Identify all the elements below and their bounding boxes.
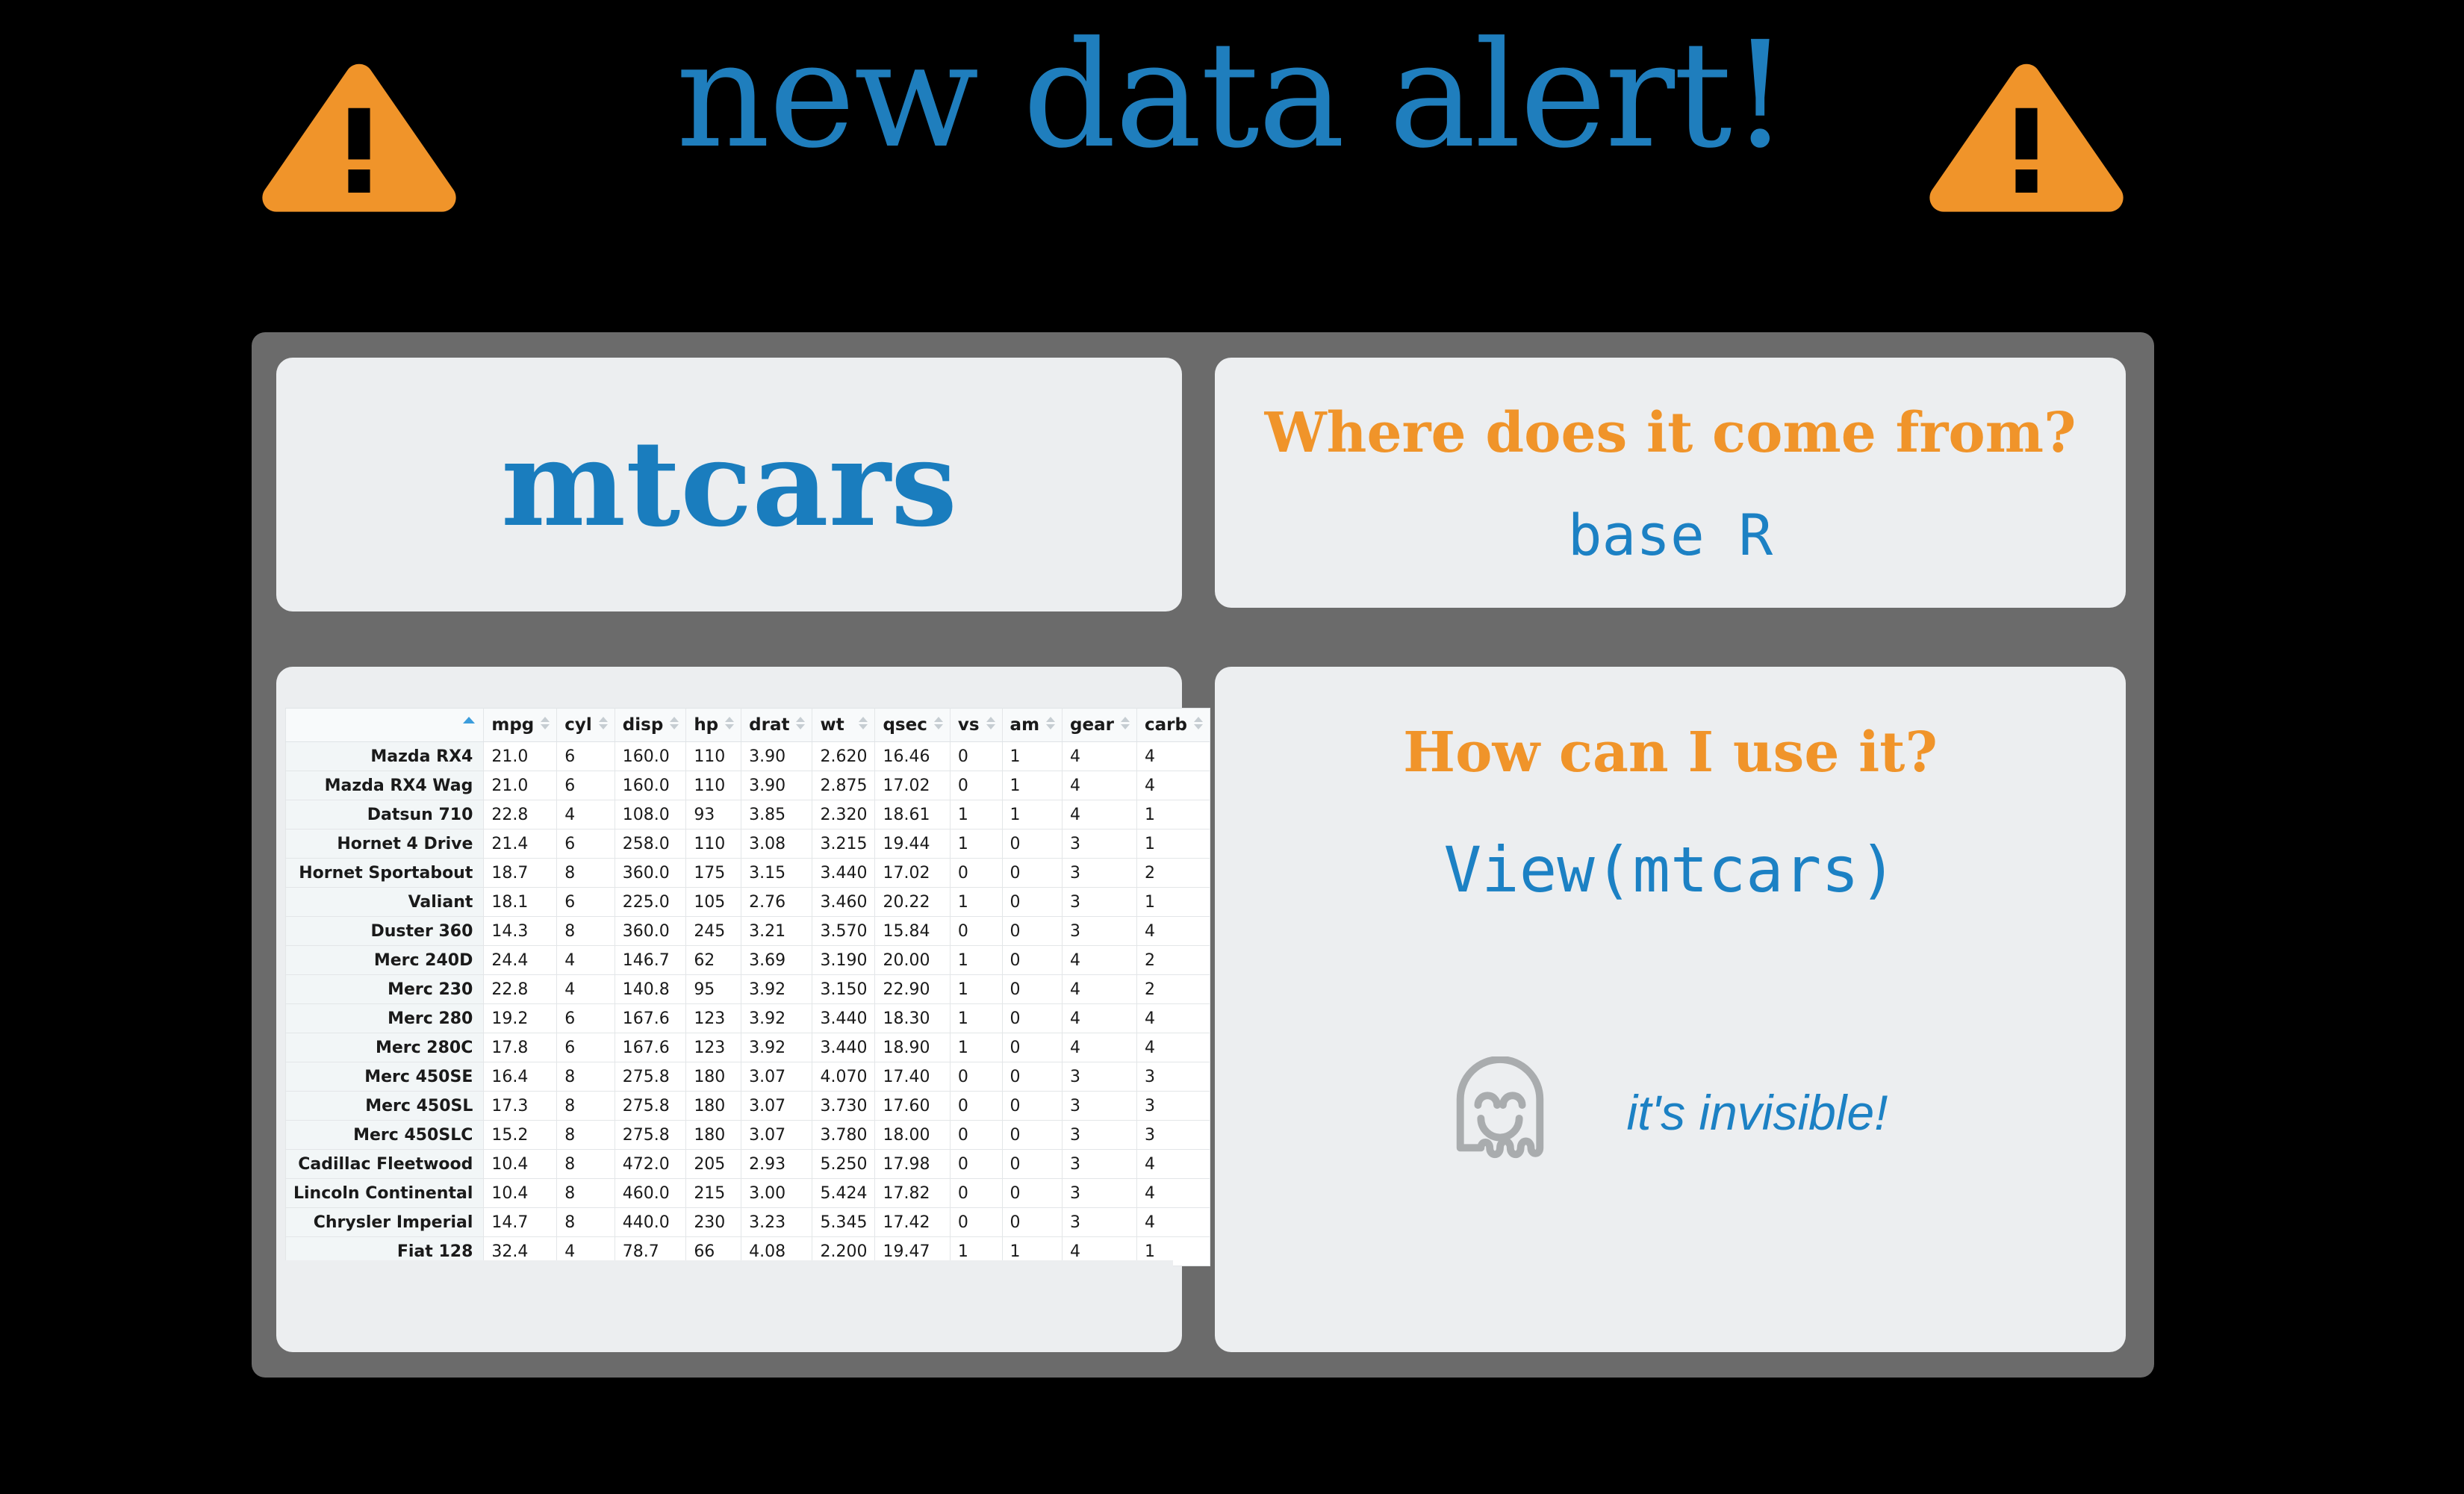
table-cell-gear: 4 — [1063, 800, 1137, 830]
content-container: mtcars mpgcyldisphpdratwtqsecvsamgearcar… — [252, 332, 2154, 1378]
mtcars-table: mpgcyldisphpdratwtqsecvsamgearcarb Mazda… — [285, 708, 1210, 1266]
table-cell-mpg: 17.3 — [484, 1092, 557, 1121]
table-cell-hp: 123 — [686, 1033, 741, 1062]
header: new data alert! — [0, 0, 2464, 314]
table-cell-wt: 3.440 — [812, 1033, 875, 1062]
table-cell-qsec: 16.46 — [875, 742, 950, 771]
table-cell-disp: 160.0 — [615, 771, 686, 800]
table-cell-rowname: Lincoln Continental — [286, 1179, 484, 1208]
table-cell-drat: 3.15 — [741, 859, 812, 888]
table-cell-drat: 3.90 — [741, 771, 812, 800]
sort-toggle-icon[interactable] — [725, 717, 735, 733]
table-cell-mpg: 22.8 — [484, 800, 557, 830]
table-cell-hp: 245 — [686, 917, 741, 946]
table-cell-drat: 3.08 — [741, 830, 812, 859]
table-cell-carb: 2 — [1136, 946, 1210, 975]
table-cell-drat: 3.92 — [741, 975, 812, 1004]
table-cell-carb: 2 — [1136, 859, 1210, 888]
table-cell-carb: 4 — [1136, 1150, 1210, 1179]
table-cell-mpg: 21.4 — [484, 830, 557, 859]
table-cell-mpg: 22.8 — [484, 975, 557, 1004]
table-header-disp[interactable]: disp — [615, 709, 686, 742]
table-cell-vs: 1 — [950, 975, 1002, 1004]
table-cell-disp: 440.0 — [615, 1208, 686, 1237]
table-cell-drat: 3.23 — [741, 1208, 812, 1237]
table-row[interactable]: Merc 280C17.86167.61233.923.44018.901044 — [286, 1033, 1210, 1062]
table-cell-mpg: 24.4 — [484, 946, 557, 975]
table-cell-rowname: Valiant — [286, 888, 484, 917]
table-header-mpg[interactable]: mpg — [484, 709, 557, 742]
table-clip-mask — [285, 1260, 1173, 1313]
table-row[interactable]: Hornet Sportabout18.78360.01753.153.4401… — [286, 859, 1210, 888]
table-cell-drat: 2.76 — [741, 888, 812, 917]
table-cell-rowname: Hornet Sportabout — [286, 859, 484, 888]
sort-toggle-icon[interactable] — [859, 717, 868, 733]
table-cell-carb: 4 — [1136, 917, 1210, 946]
table-cell-cyl: 6 — [557, 1004, 615, 1033]
table-header-row: mpgcyldisphpdratwtqsecvsamgearcarb — [286, 709, 1210, 742]
ghost-icon — [1452, 1056, 1548, 1168]
table-cell-carb: 3 — [1136, 1092, 1210, 1121]
table-cell-wt: 2.620 — [812, 742, 875, 771]
table-cell-drat: 3.92 — [741, 1004, 812, 1033]
table-cell-gear: 3 — [1063, 888, 1137, 917]
table-cell-cyl: 8 — [557, 1150, 615, 1179]
table-cell-mpg: 19.2 — [484, 1004, 557, 1033]
table-cell-rowname: Merc 450SE — [286, 1062, 484, 1092]
sort-toggle-icon[interactable] — [1194, 717, 1204, 733]
table-row[interactable]: Mazda RX421.06160.01103.902.62016.460144 — [286, 742, 1210, 771]
table-header-drat[interactable]: drat — [741, 709, 812, 742]
table-cell-gear: 3 — [1063, 1208, 1137, 1237]
table-cell-gear: 3 — [1063, 1062, 1137, 1092]
table-row[interactable]: Datsun 71022.84108.0933.852.32018.611141 — [286, 800, 1210, 830]
table-cell-vs: 0 — [950, 1062, 1002, 1092]
table-cell-mpg: 21.0 — [484, 771, 557, 800]
table-cell-mpg: 18.7 — [484, 859, 557, 888]
usage-question: How can I use it? — [1215, 725, 2126, 780]
table-cell-cyl: 6 — [557, 888, 615, 917]
table-cell-vs: 0 — [950, 1208, 1002, 1237]
table-cell-rowname: Duster 360 — [286, 917, 484, 946]
table-header-am[interactable]: am — [1002, 709, 1063, 742]
table-cell-am: 0 — [1002, 1150, 1063, 1179]
table-cell-hp: 180 — [686, 1062, 741, 1092]
table-cell-vs: 0 — [950, 742, 1002, 771]
table-row[interactable]: Hornet 4 Drive21.46258.01103.083.21519.4… — [286, 830, 1210, 859]
table-cell-qsec: 20.00 — [875, 946, 950, 975]
usage-panel: How can I use it? View(mtcars) it's invi… — [1215, 667, 2126, 1352]
table-cell-gear: 3 — [1063, 1092, 1137, 1121]
table-cell-gear: 4 — [1063, 1004, 1137, 1033]
table-cell-drat: 3.85 — [741, 800, 812, 830]
table-cell-wt: 3.150 — [812, 975, 875, 1004]
table-cell-am: 0 — [1002, 1208, 1063, 1237]
table-cell-qsec: 17.98 — [875, 1150, 950, 1179]
table-cell-disp: 258.0 — [615, 830, 686, 859]
table-cell-carb: 1 — [1136, 888, 1210, 917]
table-cell-vs: 0 — [950, 917, 1002, 946]
table-cell-vs: 1 — [950, 830, 1002, 859]
table-cell-disp: 360.0 — [615, 859, 686, 888]
table-cell-wt: 3.570 — [812, 917, 875, 946]
origin-panel: Where does it come from? base R — [1215, 358, 2126, 608]
table-header-rowname[interactable] — [286, 709, 484, 742]
table-cell-rowname: Merc 280 — [286, 1004, 484, 1033]
table-cell-qsec: 18.30 — [875, 1004, 950, 1033]
table-cell-cyl: 8 — [557, 859, 615, 888]
table-cell-gear: 4 — [1063, 742, 1137, 771]
table-cell-am: 0 — [1002, 888, 1063, 917]
table-row[interactable]: Chrysler Imperial14.78440.02303.235.3451… — [286, 1208, 1210, 1237]
table-row[interactable]: Merc 450SE16.48275.81803.074.07017.40003… — [286, 1062, 1210, 1092]
table-cell-qsec: 18.90 — [875, 1033, 950, 1062]
table-cell-am: 0 — [1002, 1033, 1063, 1062]
table-row[interactable]: Merc 23022.84140.8953.923.15022.901042 — [286, 975, 1210, 1004]
table-cell-hp: 123 — [686, 1004, 741, 1033]
usage-answer: View(mtcars) — [1215, 838, 2126, 901]
table-cell-qsec: 15.84 — [875, 917, 950, 946]
table-cell-mpg: 10.4 — [484, 1150, 557, 1179]
table-header: mpgcyldisphpdratwtqsecvsamgearcarb — [286, 709, 1210, 742]
table-cell-mpg: 15.2 — [484, 1121, 557, 1150]
table-cell-disp: 160.0 — [615, 742, 686, 771]
table-cell-rowname: Hornet 4 Drive — [286, 830, 484, 859]
table-cell-drat: 3.07 — [741, 1092, 812, 1121]
table-cell-drat: 3.90 — [741, 742, 812, 771]
table-cell-rowname: Merc 230 — [286, 975, 484, 1004]
table-cell-gear: 4 — [1063, 1033, 1137, 1062]
table-cell-wt: 3.190 — [812, 946, 875, 975]
table-cell-drat: 3.69 — [741, 946, 812, 975]
table-row[interactable]: Lincoln Continental10.48460.02153.005.42… — [286, 1179, 1210, 1208]
table-cell-qsec: 20.22 — [875, 888, 950, 917]
table-body: Mazda RX421.06160.01103.902.62016.460144… — [286, 742, 1210, 1266]
table-cell-wt: 5.345 — [812, 1208, 875, 1237]
table-row[interactable]: Merc 450SL17.38275.81803.073.73017.60003… — [286, 1092, 1210, 1121]
table-cell-wt: 5.424 — [812, 1179, 875, 1208]
table-row[interactable]: Merc 450SLC15.28275.81803.073.78018.0000… — [286, 1121, 1210, 1150]
table-cell-cyl: 6 — [557, 771, 615, 800]
table-cell-hp: 180 — [686, 1092, 741, 1121]
dataset-name-panel: mtcars — [276, 358, 1182, 611]
table-row[interactable]: Duster 36014.38360.02453.213.57015.84003… — [286, 917, 1210, 946]
table-cell-am: 1 — [1002, 800, 1063, 830]
table-cell-am: 1 — [1002, 742, 1063, 771]
table-cell-carb: 3 — [1136, 1062, 1210, 1092]
table-cell-mpg: 17.8 — [484, 1033, 557, 1062]
table-cell-cyl: 8 — [557, 1121, 615, 1150]
table-cell-rowname: Mazda RX4 Wag — [286, 771, 484, 800]
table-cell-rowname: Cadillac Fleetwood — [286, 1150, 484, 1179]
table-cell-rowname: Merc 450SLC — [286, 1121, 484, 1150]
table-cell-carb: 4 — [1136, 771, 1210, 800]
table-cell-qsec: 17.42 — [875, 1208, 950, 1237]
table-cell-am: 0 — [1002, 1062, 1063, 1092]
warning-triangle-icon — [1925, 60, 2128, 213]
table-cell-vs: 0 — [950, 771, 1002, 800]
table-row[interactable]: Merc 28019.26167.61233.923.44018.301044 — [286, 1004, 1210, 1033]
table-cell-cyl: 8 — [557, 1092, 615, 1121]
table-cell-drat: 3.07 — [741, 1062, 812, 1092]
table-cell-wt: 3.215 — [812, 830, 875, 859]
sort-toggle-icon[interactable] — [934, 717, 944, 733]
table-cell-qsec: 17.02 — [875, 859, 950, 888]
table-header-hp[interactable]: hp — [686, 709, 741, 742]
table-cell-hp: 105 — [686, 888, 741, 917]
table-cell-wt: 4.070 — [812, 1062, 875, 1092]
table-cell-hp: 180 — [686, 1121, 741, 1150]
table-cell-disp: 225.0 — [615, 888, 686, 917]
table-header-vs[interactable]: vs — [950, 709, 1002, 742]
table-cell-rowname: Chrysler Imperial — [286, 1208, 484, 1237]
table-cell-cyl: 6 — [557, 742, 615, 771]
sort-toggle-icon[interactable] — [796, 717, 806, 733]
table-cell-hp: 62 — [686, 946, 741, 975]
table-cell-drat: 3.07 — [741, 1121, 812, 1150]
table-cell-mpg: 18.1 — [484, 888, 557, 917]
sort-asc-icon[interactable] — [463, 717, 473, 733]
table-cell-wt: 3.460 — [812, 888, 875, 917]
table-cell-carb: 3 — [1136, 1121, 1210, 1150]
table-cell-cyl: 4 — [557, 975, 615, 1004]
table-cell-wt: 2.320 — [812, 800, 875, 830]
table-header-wt[interactable]: wt — [812, 709, 875, 742]
table-cell-qsec: 18.00 — [875, 1121, 950, 1150]
table-cell-am: 0 — [1002, 1179, 1063, 1208]
sort-toggle-icon[interactable] — [670, 717, 679, 733]
origin-answer: base R — [1215, 507, 2126, 564]
table-cell-am: 0 — [1002, 975, 1063, 1004]
table-cell-carb: 2 — [1136, 975, 1210, 1004]
table-cell-mpg: 14.7 — [484, 1208, 557, 1237]
table-cell-gear: 3 — [1063, 1179, 1137, 1208]
table-cell-disp: 146.7 — [615, 946, 686, 975]
table-row[interactable]: Mazda RX4 Wag21.06160.01103.902.87517.02… — [286, 771, 1210, 800]
table-cell-drat: 2.93 — [741, 1150, 812, 1179]
table-row[interactable]: Merc 240D24.44146.7623.693.19020.001042 — [286, 946, 1210, 975]
table-row[interactable]: Valiant18.16225.01052.763.46020.221031 — [286, 888, 1210, 917]
table-cell-gear: 4 — [1063, 975, 1137, 1004]
table-cell-drat: 3.00 — [741, 1179, 812, 1208]
table-cell-qsec: 18.61 — [875, 800, 950, 830]
table-cell-cyl: 6 — [557, 830, 615, 859]
table-cell-am: 0 — [1002, 917, 1063, 946]
table-cell-cyl: 6 — [557, 1033, 615, 1062]
table-cell-gear: 4 — [1063, 771, 1137, 800]
table-cell-am: 0 — [1002, 946, 1063, 975]
table-cell-qsec: 17.40 — [875, 1062, 950, 1092]
table-cell-vs: 0 — [950, 1150, 1002, 1179]
table-cell-wt: 3.440 — [812, 859, 875, 888]
table-cell-gear: 3 — [1063, 830, 1137, 859]
sort-toggle-icon[interactable] — [1121, 717, 1130, 733]
table-cell-rowname: Merc 240D — [286, 946, 484, 975]
table-cell-hp: 175 — [686, 859, 741, 888]
table-cell-am: 1 — [1002, 771, 1063, 800]
table-header-cyl[interactable]: cyl — [557, 709, 615, 742]
table-cell-am: 0 — [1002, 1004, 1063, 1033]
table-cell-mpg: 21.0 — [484, 742, 557, 771]
table-cell-cyl: 8 — [557, 1179, 615, 1208]
table-cell-drat: 3.92 — [741, 1033, 812, 1062]
table-cell-disp: 275.8 — [615, 1121, 686, 1150]
data-table-panel: mpgcyldisphpdratwtqsecvsamgearcarb Mazda… — [276, 667, 1182, 1352]
table-cell-hp: 205 — [686, 1150, 741, 1179]
table-cell-am: 0 — [1002, 859, 1063, 888]
table-cell-qsec: 19.44 — [875, 830, 950, 859]
table-cell-wt: 3.730 — [812, 1092, 875, 1121]
table-cell-drat: 3.21 — [741, 917, 812, 946]
table-cell-qsec: 17.02 — [875, 771, 950, 800]
table-cell-vs: 1 — [950, 1004, 1002, 1033]
table-cell-vs: 0 — [950, 1179, 1002, 1208]
table-cell-vs: 0 — [950, 1121, 1002, 1150]
table-cell-hp: 230 — [686, 1208, 741, 1237]
table-cell-wt: 3.440 — [812, 1004, 875, 1033]
table-cell-vs: 1 — [950, 1033, 1002, 1062]
table-header-qsec[interactable]: qsec — [875, 709, 950, 742]
table-cell-disp: 167.6 — [615, 1033, 686, 1062]
table-cell-gear: 3 — [1063, 1150, 1137, 1179]
table-cell-wt: 5.250 — [812, 1150, 875, 1179]
table-cell-am: 0 — [1002, 1092, 1063, 1121]
table-header-gear[interactable]: gear — [1063, 709, 1137, 742]
table-cell-disp: 275.8 — [615, 1062, 686, 1092]
sort-toggle-icon[interactable] — [541, 717, 550, 733]
table-cell-vs: 0 — [950, 859, 1002, 888]
table-cell-disp: 167.6 — [615, 1004, 686, 1033]
table-cell-mpg: 14.3 — [484, 917, 557, 946]
table-cell-vs: 0 — [950, 1092, 1002, 1121]
table-cell-gear: 3 — [1063, 1121, 1137, 1150]
table-cell-mpg: 16.4 — [484, 1062, 557, 1092]
table-cell-hp: 110 — [686, 830, 741, 859]
table-cell-disp: 140.8 — [615, 975, 686, 1004]
table-cell-rowname: Merc 280C — [286, 1033, 484, 1062]
sort-toggle-icon[interactable] — [986, 717, 996, 733]
table-cell-disp: 360.0 — [615, 917, 686, 946]
table-cell-qsec: 22.90 — [875, 975, 950, 1004]
table-cell-hp: 110 — [686, 742, 741, 771]
table-cell-qsec: 17.82 — [875, 1179, 950, 1208]
origin-question: Where does it come from? — [1215, 405, 2126, 461]
table-cell-carb: 4 — [1136, 1208, 1210, 1237]
table-row[interactable]: Cadillac Fleetwood10.48472.02052.935.250… — [286, 1150, 1210, 1179]
table-cell-vs: 1 — [950, 946, 1002, 975]
table-cell-hp: 93 — [686, 800, 741, 830]
sort-toggle-icon[interactable] — [599, 717, 609, 733]
sort-toggle-icon[interactable] — [1046, 717, 1056, 733]
table-cell-rowname: Mazda RX4 — [286, 742, 484, 771]
table-cell-disp: 460.0 — [615, 1179, 686, 1208]
table-cell-wt: 3.780 — [812, 1121, 875, 1150]
table-cell-carb: 4 — [1136, 1033, 1210, 1062]
table-cell-vs: 1 — [950, 888, 1002, 917]
table-cell-gear: 3 — [1063, 917, 1137, 946]
table-cell-hp: 215 — [686, 1179, 741, 1208]
table-cell-cyl: 4 — [557, 800, 615, 830]
table-cell-rowname: Datsun 710 — [286, 800, 484, 830]
table-cell-am: 0 — [1002, 1121, 1063, 1150]
usage-note: it's invisible! — [1626, 1088, 1888, 1137]
table-cell-vs: 1 — [950, 800, 1002, 830]
table-cell-gear: 3 — [1063, 859, 1137, 888]
table-cell-am: 0 — [1002, 830, 1063, 859]
data-table-wrapper[interactable]: mpgcyldisphpdratwtqsecvsamgearcarb Mazda… — [285, 708, 1173, 1266]
table-cell-carb: 4 — [1136, 1179, 1210, 1208]
table-cell-rowname: Merc 450SL — [286, 1092, 484, 1121]
table-header-carb[interactable]: carb — [1136, 709, 1210, 742]
table-cell-cyl: 8 — [557, 1062, 615, 1092]
table-cell-disp: 472.0 — [615, 1150, 686, 1179]
table-cell-disp: 275.8 — [615, 1092, 686, 1121]
table-cell-hp: 95 — [686, 975, 741, 1004]
table-cell-hp: 110 — [686, 771, 741, 800]
slide-root: new data alert! mtcars mpgcyldisphpdratw… — [0, 0, 2464, 1494]
table-cell-qsec: 17.60 — [875, 1092, 950, 1121]
table-cell-carb: 4 — [1136, 1004, 1210, 1033]
table-cell-mpg: 10.4 — [484, 1179, 557, 1208]
dataset-name: mtcars — [276, 426, 1182, 544]
table-cell-wt: 2.875 — [812, 771, 875, 800]
table-cell-disp: 108.0 — [615, 800, 686, 830]
usage-note-row: it's invisible! — [1215, 1056, 2126, 1168]
table-cell-carb: 1 — [1136, 800, 1210, 830]
table-cell-gear: 4 — [1063, 946, 1137, 975]
table-cell-carb: 4 — [1136, 742, 1210, 771]
table-cell-cyl: 8 — [557, 1208, 615, 1237]
table-cell-cyl: 4 — [557, 946, 615, 975]
table-cell-cyl: 8 — [557, 917, 615, 946]
table-cell-carb: 1 — [1136, 830, 1210, 859]
